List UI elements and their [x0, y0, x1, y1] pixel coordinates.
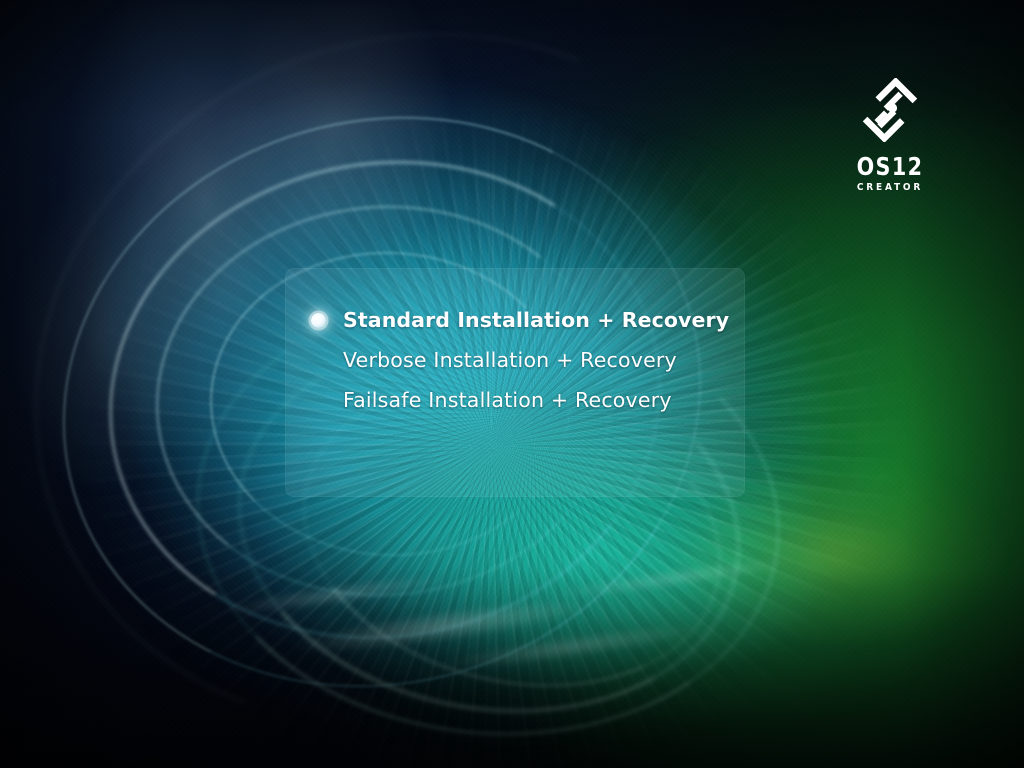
brand-subtitle: CREATOR	[827, 183, 953, 193]
os12-logo-mark-icon	[858, 78, 922, 142]
boot-entry-list[interactable]: Standard Installation + Recovery Verbose…	[285, 268, 745, 497]
boot-entry-failsafe[interactable]: Failsafe Installation + Recovery	[285, 380, 745, 420]
boot-entry-label: Standard Installation + Recovery	[315, 308, 745, 332]
radio-unselected-icon	[285, 340, 315, 380]
radio-unselected-icon	[285, 380, 315, 420]
boot-entry-label: Failsafe Installation + Recovery	[315, 388, 745, 412]
brand-logo: OS12 CREATOR	[820, 78, 960, 193]
brand-name: OS12	[826, 154, 955, 179]
radio-selected-icon	[285, 300, 315, 340]
boot-entry-label: Verbose Installation + Recovery	[315, 348, 745, 372]
boot-menu-screen: OS12 CREATOR Standard Installation + Rec…	[0, 0, 1024, 768]
boot-entry-verbose[interactable]: Verbose Installation + Recovery	[285, 340, 745, 380]
boot-entry-standard[interactable]: Standard Installation + Recovery	[285, 300, 745, 340]
